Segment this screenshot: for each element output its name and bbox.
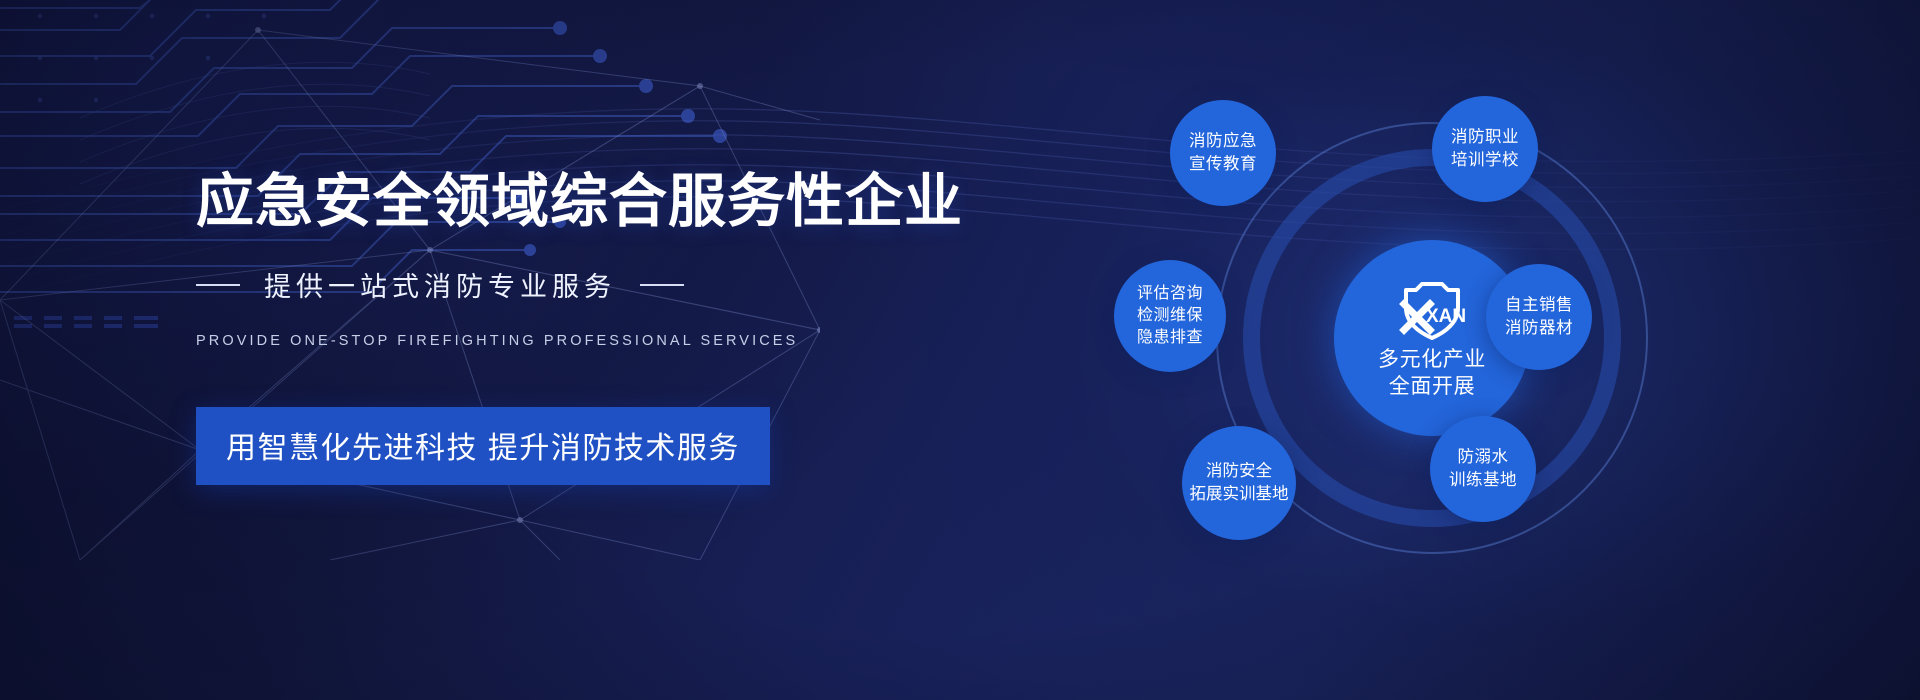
hero-banner: 应急安全领域综合服务性企业 提供一站式消防专业服务 PROVIDE ONE-ST… xyxy=(0,0,1920,700)
center-node-line2: 全面开展 xyxy=(1378,373,1486,400)
service-node-top-right[interactable]: 消防职业 培训学校 xyxy=(1432,96,1538,202)
hero-copy-block: 应急安全领域综合服务性企业 提供一站式消防专业服务 PROVIDE ONE-ST… xyxy=(196,168,1016,485)
service-node-top-left[interactable]: 消防应急 宣传教育 xyxy=(1170,100,1276,206)
service-node-bottom-left-line1: 消防安全 xyxy=(1206,460,1272,483)
service-node-top-left-line2: 宣传教育 xyxy=(1189,153,1257,176)
service-node-right[interactable]: 自主销售 消防器材 xyxy=(1486,264,1592,370)
center-node-label: 多元化产业 全面开展 xyxy=(1378,346,1486,401)
svg-text:XAN: XAN xyxy=(1426,306,1466,327)
hero-subtitle: 提供一站式消防专业服务 xyxy=(196,265,1016,304)
service-node-bottom-left-line2: 拓展实训基地 xyxy=(1190,483,1289,506)
cta-banner[interactable]: 用智慧化先进科技 提升消防技术服务 xyxy=(196,407,770,485)
service-node-top-right-line2: 培训学校 xyxy=(1451,149,1519,172)
service-node-left-line1: 评估咨询 xyxy=(1137,283,1203,305)
rule-right-decoration xyxy=(640,284,684,286)
service-node-bottom-right[interactable]: 防溺水 训练基地 xyxy=(1430,416,1536,522)
center-node-line1: 多元化产业 xyxy=(1378,346,1486,373)
hero-subtitle-text: 提供一站式消防专业服务 xyxy=(264,265,616,304)
service-node-right-line2: 消防器材 xyxy=(1505,317,1573,340)
service-node-bottom-left[interactable]: 消防安全 拓展实训基地 xyxy=(1182,426,1296,540)
page-title: 应急安全领域综合服务性企业 xyxy=(196,168,1016,235)
services-orbit-diagram: XAN 多元化产业 全面开展 消防应急 宣传教育 消防职业 培训学校 评估咨询 … xyxy=(1152,78,1712,598)
service-node-left-line3: 隐患排查 xyxy=(1137,327,1203,349)
service-node-top-right-line1: 消防职业 xyxy=(1451,126,1519,149)
hero-english-tagline: PROVIDE ONE-STOP FIREFIGHTING PROFESSION… xyxy=(196,333,1016,349)
rule-left-decoration xyxy=(196,284,240,286)
service-node-right-line1: 自主销售 xyxy=(1505,294,1573,317)
service-node-left[interactable]: 评估咨询 检测维保 隐患排查 xyxy=(1114,260,1226,372)
service-node-bottom-right-line1: 防溺水 xyxy=(1458,446,1509,469)
service-node-left-line2: 检测维保 xyxy=(1137,305,1203,327)
service-node-top-left-line1: 消防应急 xyxy=(1189,130,1257,153)
service-node-bottom-right-line2: 训练基地 xyxy=(1449,469,1517,492)
shield-logo-icon: XAN xyxy=(1396,276,1468,342)
